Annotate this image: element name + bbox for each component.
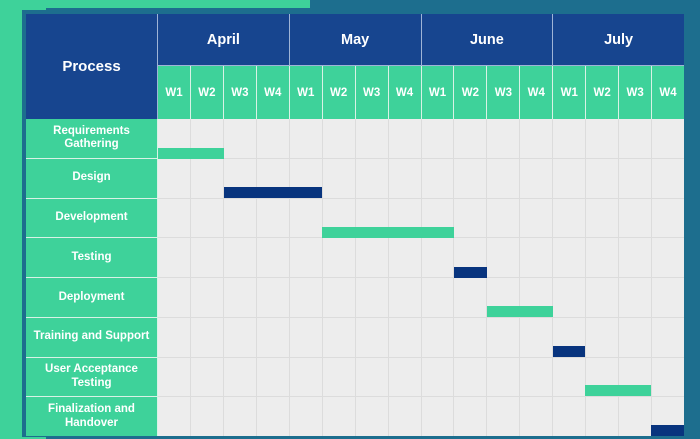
week-header-row: W1W2W3W4W1W2W3W4W1W2W3W4W1W2W3W4 (158, 66, 684, 119)
month-header-june: June (422, 14, 554, 66)
week-header-cell: W2 (191, 66, 224, 119)
week-header-cell: W3 (487, 66, 520, 119)
month-header-july: July (553, 14, 684, 66)
week-header-cell: W3 (356, 66, 389, 119)
gantt-body: Requirements GatheringDesignDevelopmentT… (26, 119, 684, 436)
timeline-header: AprilMayJuneJuly W1W2W3W4W1W2W3W4W1W2W3W… (158, 14, 684, 119)
week-header-cell: W4 (652, 66, 684, 119)
week-header-cell: W2 (323, 66, 356, 119)
week-header-cell: W4 (257, 66, 290, 119)
process-column-header: Process (26, 14, 158, 119)
task-bar[interactable] (322, 227, 454, 238)
month-header-row: AprilMayJuneJuly (158, 14, 684, 66)
accent-bar-top (0, 0, 310, 8)
week-header-cell: W2 (586, 66, 619, 119)
week-header-cell: W1 (553, 66, 586, 119)
week-header-cell: W4 (520, 66, 553, 119)
task-bar[interactable] (454, 267, 487, 278)
task-bar[interactable] (487, 306, 553, 317)
week-header-cell: W3 (224, 66, 257, 119)
task-bar[interactable] (553, 346, 586, 357)
week-header-cell: W4 (389, 66, 422, 119)
task-label: User Acceptance Testing (26, 358, 157, 398)
gantt-chart: Process AprilMayJuneJuly W1W2W3W4W1W2W3W… (26, 14, 684, 436)
task-bars-layer (158, 119, 684, 436)
task-label: Design (26, 159, 157, 199)
gantt-grid-area (158, 119, 684, 436)
week-header-cell: W1 (290, 66, 323, 119)
week-header-cell: W1 (158, 66, 191, 119)
task-label: Development (26, 199, 157, 239)
task-label-column: Requirements GatheringDesignDevelopmentT… (26, 119, 158, 436)
task-label: Requirements Gathering (26, 119, 157, 159)
task-label: Finalization and Handover (26, 397, 157, 436)
gantt-header: Process AprilMayJuneJuly W1W2W3W4W1W2W3W… (26, 14, 684, 119)
task-bar[interactable] (585, 385, 651, 396)
task-label: Testing (26, 238, 157, 278)
week-header-cell: W2 (454, 66, 487, 119)
month-header-may: May (290, 14, 422, 66)
month-header-april: April (158, 14, 290, 66)
task-bar[interactable] (651, 425, 684, 436)
week-header-cell: W1 (422, 66, 455, 119)
task-bar[interactable] (224, 187, 323, 198)
task-label: Training and Support (26, 318, 157, 358)
week-header-cell: W3 (619, 66, 652, 119)
task-label: Deployment (26, 278, 157, 318)
task-bar[interactable] (158, 148, 224, 159)
